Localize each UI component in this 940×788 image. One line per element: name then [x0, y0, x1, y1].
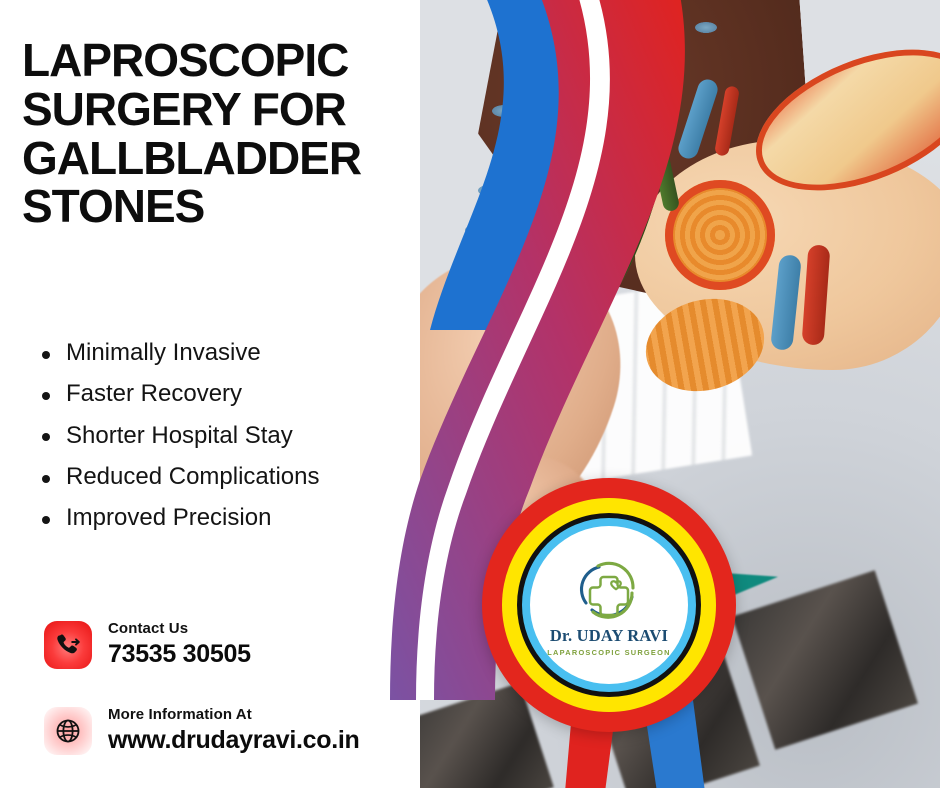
benefits-list: Minimally Invasive Faster Recovery Short… [30, 332, 400, 538]
benefit-label: Improved Precision [66, 504, 271, 531]
list-item: Shorter Hospital Stay [30, 415, 400, 456]
logo-name: Dr. UDAY RAVI [550, 626, 668, 646]
contact-website-label: More Information At [108, 706, 359, 723]
list-item: Minimally Invasive [30, 332, 400, 373]
badge-ring-black: Dr. UDAY RAVI LAPAROSCOPIC SURGEON [517, 513, 701, 697]
benefit-label: Shorter Hospital Stay [66, 422, 293, 449]
contact-phone-label: Contact Us [108, 620, 251, 637]
contact-website-text: More Information At www.drudayravi.co.in [108, 706, 359, 755]
contact-phone-text: Contact Us 73535 30505 [108, 620, 251, 669]
logo-badge[interactable]: Dr. UDAY RAVI LAPAROSCOPIC SURGEON [482, 478, 736, 732]
contact-website-row[interactable]: More Information At www.drudayravi.co.in [44, 706, 359, 755]
contact-phone-row[interactable]: Contact Us 73535 30505 [44, 620, 251, 669]
benefit-label: Faster Recovery [66, 380, 242, 407]
page-title: LAPROSCOPIC SURGERY FOR GALLBLADDER STON… [22, 36, 492, 231]
benefit-label: Minimally Invasive [66, 339, 261, 366]
badge-ring-blue: Dr. UDAY RAVI LAPAROSCOPIC SURGEON [522, 518, 696, 692]
badge-ring-yellow: Dr. UDAY RAVI LAPAROSCOPIC SURGEON [502, 498, 716, 712]
medical-cross-heart-swoosh-icon [572, 557, 646, 623]
logo-tagline: LAPAROSCOPIC SURGEON [547, 648, 670, 657]
poster-canvas: LAPROSCOPIC SURGERY FOR GALLBLADDER STON… [0, 0, 940, 788]
list-item: Faster Recovery [30, 373, 400, 414]
benefit-label: Reduced Complications [66, 463, 319, 490]
globe-icon [44, 707, 92, 755]
phone-incoming-icon [44, 621, 92, 669]
list-item: Improved Precision [30, 497, 400, 538]
contact-website-value[interactable]: www.drudayravi.co.in [108, 726, 359, 755]
badge-core: Dr. UDAY RAVI LAPAROSCOPIC SURGEON [530, 526, 688, 684]
contact-phone-value[interactable]: 73535 30505 [108, 640, 251, 669]
list-item: Reduced Complications [30, 456, 400, 497]
